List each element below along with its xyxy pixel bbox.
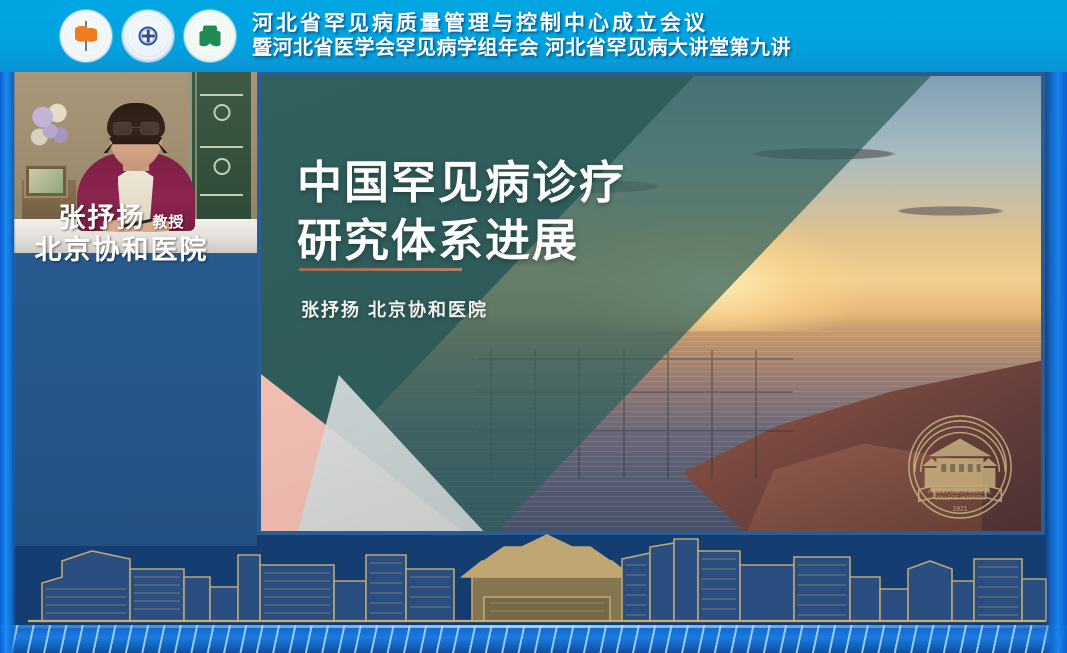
hospital-skyline-graphic xyxy=(14,525,1050,625)
event-title-line-2: 暨河北省医学会罕见病学组年会 河北省罕见病大讲堂第九讲 xyxy=(252,36,791,61)
hebei-medical-association-logo xyxy=(122,10,174,62)
event-title-line-1: 河北省罕见病质量管理与控制中心成立会议 xyxy=(252,11,791,36)
event-header-banner: 河北省罕见病质量管理与控制中心成立会议 暨河北省医学会罕见病学组年会 河北省罕见… xyxy=(0,0,1067,72)
speaker-organization: 北京协和医院 xyxy=(0,228,243,267)
hebei-rare-disease-center-logo xyxy=(184,10,236,62)
framed-picture xyxy=(24,164,68,198)
webinar-stream-stage: 河北省罕见病质量管理与控制中心成立会议 暨河北省医学会罕见病学组年会 河北省罕见… xyxy=(0,0,1067,653)
decorative-flowers xyxy=(30,102,72,152)
slide-byline: 张抒扬 北京协和医院 xyxy=(301,296,488,322)
slide-title-line-2: 研究体系进展 xyxy=(297,212,626,270)
event-title-block: 河北省罕见病质量管理与控制中心成立会议 暨河北省医学会罕见病学组年会 河北省罕见… xyxy=(252,11,791,61)
pumch-crest: PEKING UNION MEDICAL COLLEGE HOSPITAL 19… xyxy=(901,411,1019,523)
slide-title-line-1: 中国罕见病诊疗 xyxy=(297,154,626,212)
pumch-crest-line-2: COLLEGE HOSPITAL xyxy=(934,495,986,501)
slide-title-block: 中国罕见病诊疗 研究体系进展 xyxy=(297,154,626,270)
hebei-medical-university-logo xyxy=(60,10,112,62)
pumch-crest-year: 1921 xyxy=(952,506,967,513)
footer-light-band xyxy=(0,625,1067,653)
presentation-slide[interactable]: 中国罕见病诊疗 研究体系进展 张抒扬 北京协和医院 xyxy=(257,72,1045,535)
eyeglasses-icon xyxy=(113,122,159,135)
slide-title-divider xyxy=(299,268,462,271)
organizer-logo-row xyxy=(60,10,236,62)
